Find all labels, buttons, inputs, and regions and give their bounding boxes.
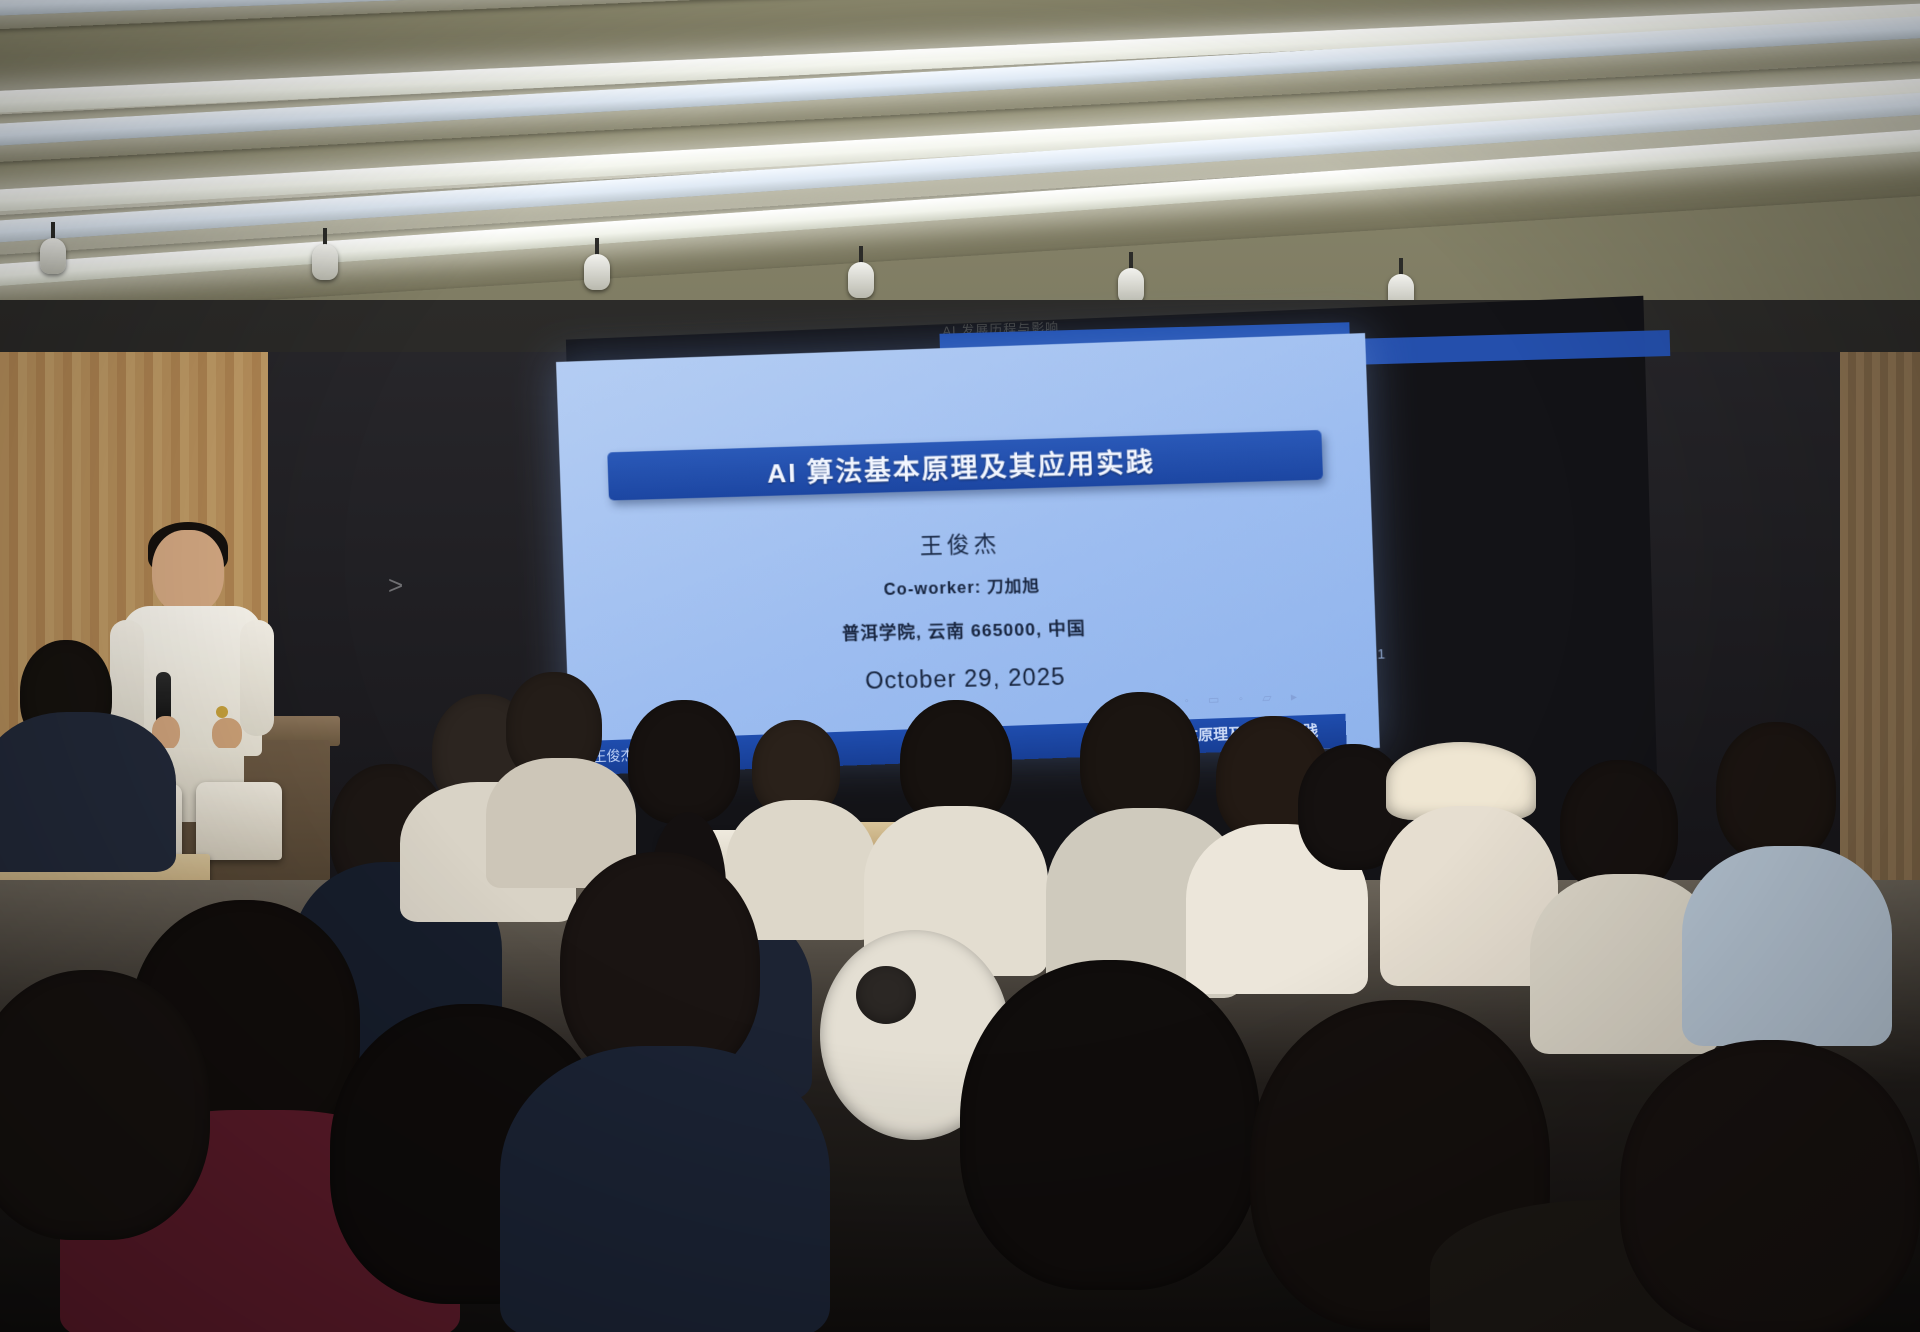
next-arrow-marker[interactable]: >	[388, 570, 403, 601]
shirt-logo	[216, 706, 228, 718]
audience-body	[1682, 846, 1892, 1046]
audience-head	[1620, 1040, 1920, 1332]
ceiling	[0, 0, 1920, 345]
track-spotlight	[312, 228, 338, 280]
audience-head	[628, 700, 740, 824]
audience-body	[500, 1046, 830, 1332]
slide-author: 王俊杰	[562, 516, 1372, 570]
track-spotlight	[848, 246, 874, 298]
wood-wall-panel-right	[1840, 352, 1920, 912]
audience-head	[0, 970, 210, 1240]
slide-title: AI 算法基本原理及其应用实践	[766, 441, 1156, 490]
audience-head	[1716, 722, 1836, 862]
slide-title-bar: AI 算法基本原理及其应用实践	[607, 430, 1323, 501]
lecture-hall-scene: > < AI 发展历程与影响 AI 核心技术 AI 应用领域 AI 实践案例 A…	[0, 0, 1920, 1332]
audience-head	[960, 960, 1260, 1290]
speaker-head	[152, 530, 224, 614]
slide-coworker: Co-worker: 刀加旭	[564, 563, 1374, 608]
speaker-hand-right	[212, 718, 242, 750]
chair	[196, 782, 282, 860]
track-spotlight	[1118, 252, 1144, 304]
slide-affiliation: 普洱学院, 云南 665000, 中国	[565, 607, 1375, 651]
track-spotlight	[40, 222, 66, 274]
track-spotlight	[584, 238, 610, 290]
audience-plush-detail	[856, 966, 916, 1024]
slide-page-number: 1	[1377, 646, 1385, 662]
speaker-arm-right	[240, 620, 274, 736]
audience-body	[0, 712, 176, 872]
